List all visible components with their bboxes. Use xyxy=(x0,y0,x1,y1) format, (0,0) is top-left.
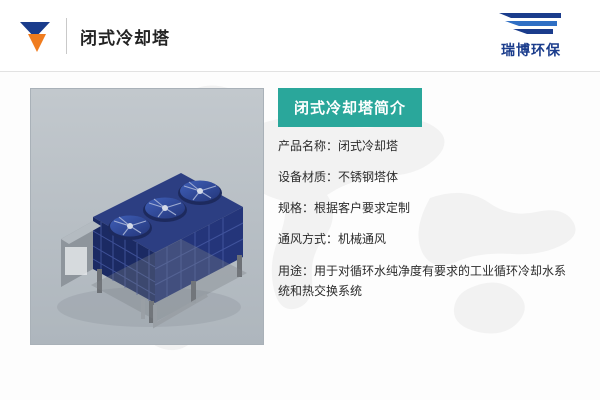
spec-value: 机械通风 xyxy=(338,232,386,246)
spec-row-specification: 规格：根据客户要求定制 xyxy=(278,199,578,217)
page-title: 闭式冷却塔 xyxy=(80,24,170,49)
product-info-column: 闭式冷却塔简介 产品名称：闭式冷却塔 设备材质：不锈钢塔体 规格：根据客户要求定… xyxy=(278,88,578,301)
wave-brand-icon xyxy=(495,10,567,38)
triangle-logo-icon xyxy=(18,18,58,56)
header-divider xyxy=(66,18,67,54)
spec-key: 通风方式： xyxy=(278,232,338,246)
brand-block: 瑞博环保 xyxy=(476,10,586,60)
slide-header: 闭式冷却塔 瑞博环保 xyxy=(0,0,600,72)
spec-value: 用于对循环水纯净度有要求的工业循环冷却水系统和热交换系统 xyxy=(278,264,566,298)
closed-cooling-tower-photo xyxy=(30,88,264,345)
spec-value: 根据客户要求定制 xyxy=(314,201,410,215)
spec-key: 产品名称： xyxy=(278,139,338,153)
spec-value: 不锈钢塔体 xyxy=(338,170,398,184)
slide-root: 闭式冷却塔 瑞博环保 xyxy=(0,0,600,400)
section-title: 闭式冷却塔简介 xyxy=(278,88,422,127)
spec-key: 规格： xyxy=(278,201,314,215)
spec-list: 产品名称：闭式冷却塔 设备材质：不锈钢塔体 规格：根据客户要求定制 通风方式：机… xyxy=(278,137,578,301)
spec-key: 用途： xyxy=(278,264,314,278)
header-rule xyxy=(0,71,600,72)
brand-name: 瑞博环保 xyxy=(476,40,586,60)
spec-row-usage: 用途：用于对循环水纯净度有要求的工业循环冷却水系统和热交换系统 xyxy=(278,261,578,301)
spec-row-ventilation: 通风方式：机械通风 xyxy=(278,230,578,248)
spec-row-product-name: 产品名称：闭式冷却塔 xyxy=(278,137,578,155)
spec-key: 设备材质： xyxy=(278,170,338,184)
spec-row-material: 设备材质：不锈钢塔体 xyxy=(278,168,578,186)
spec-value: 闭式冷却塔 xyxy=(338,139,398,153)
